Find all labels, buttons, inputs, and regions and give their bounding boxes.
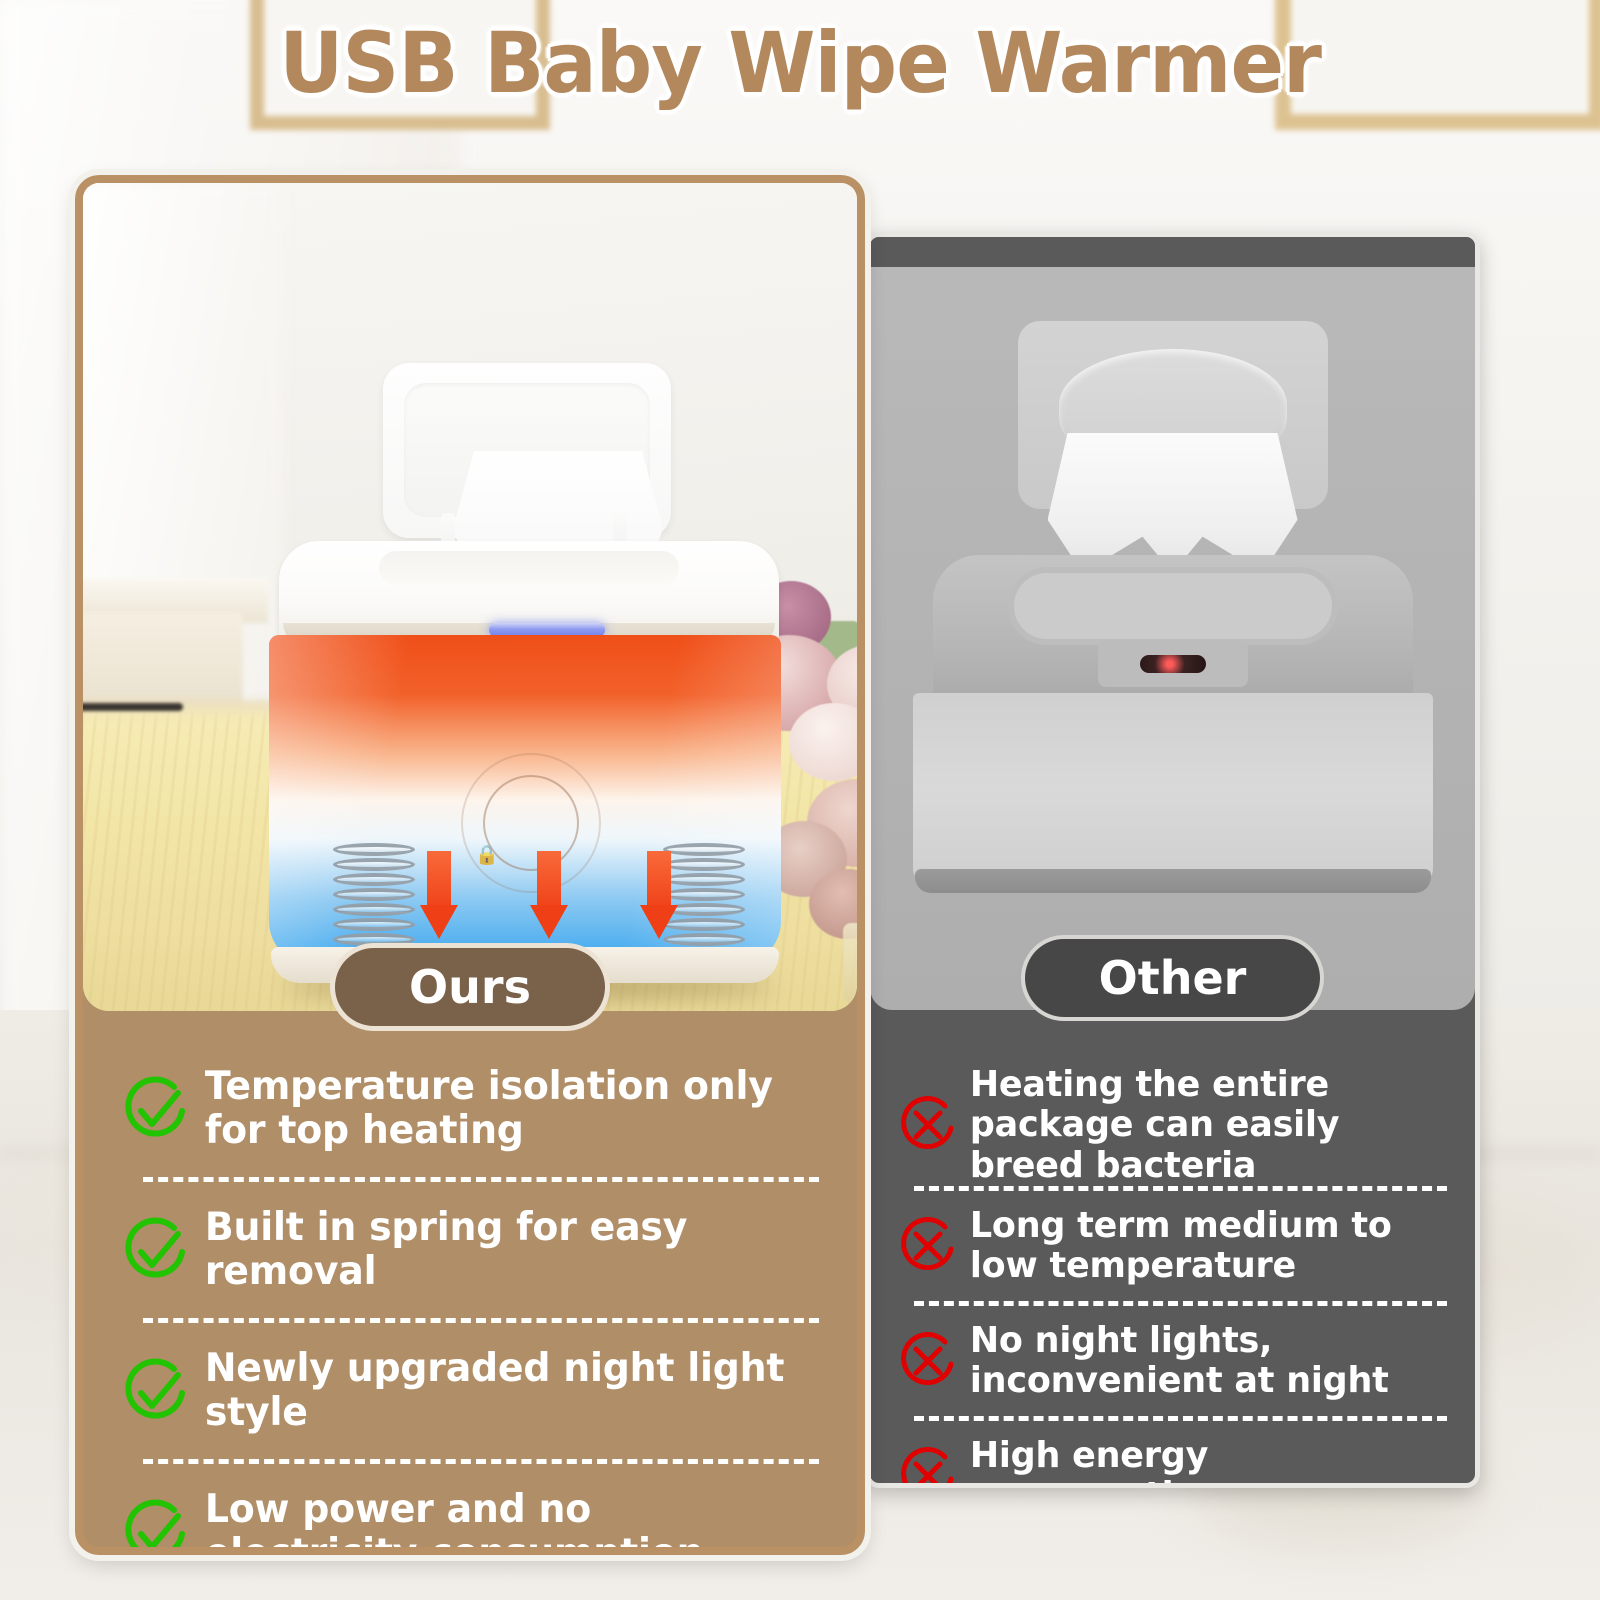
other-feature-list: Heating the entire package can easily br… [870, 1065, 1475, 1488]
list-item-label: Newly upgraded night light style [199, 1347, 814, 1434]
list-item-label: No night lights, inconvenient at night [966, 1321, 1442, 1402]
cross-circle-icon [890, 1213, 966, 1279]
other-base [915, 869, 1431, 893]
ours-product-photo: 🔒 [83, 183, 857, 1011]
other-product-photo [870, 237, 1475, 1010]
list-item: Newly upgraded night light style [113, 1323, 833, 1459]
list-item: Heating the entire package can easily br… [890, 1065, 1457, 1186]
heat-arrow-down-icon [420, 851, 458, 939]
warmer-top-slot [379, 551, 679, 585]
lock-icon: 🔒 [475, 843, 499, 867]
list-item-label: Temperature isolation only for top heati… [199, 1065, 814, 1152]
list-item-label: High energy consumption [966, 1436, 1442, 1488]
list-item-label: Built in spring for easy removal [199, 1206, 814, 1293]
list-item: High energy consumption [890, 1421, 1457, 1488]
check-circle-icon [113, 1212, 199, 1288]
ours-comparison-card: 🔒 Ours Temperature isolat [75, 175, 865, 1555]
cross-circle-icon [890, 1092, 966, 1158]
other-comparison-card: Other Heating the entire package can eas… [865, 232, 1480, 1488]
list-item-label: Low power and no electricity consumption [199, 1488, 814, 1555]
other-badge: Other [1021, 935, 1325, 1021]
page-title-container: USB Baby Wipe Warmer [0, 14, 1600, 112]
check-circle-icon [113, 1353, 199, 1429]
page-title: USB Baby Wipe Warmer [279, 14, 1321, 112]
list-item: Built in spring for easy removal [113, 1182, 833, 1318]
cross-circle-icon [890, 1443, 966, 1488]
list-item-label: Long term medium to low temperature [966, 1206, 1442, 1287]
cross-circle-icon [890, 1328, 966, 1394]
other-body [913, 693, 1433, 883]
ours-feature-list: Temperature isolation only for top heati… [83, 1041, 857, 1555]
other-indicator-led [1140, 655, 1206, 673]
list-item: Temperature isolation only for top heati… [113, 1041, 833, 1177]
list-item: Low power and no electricity consumption [113, 1464, 833, 1555]
photo-cable [83, 703, 183, 711]
list-item: No night lights, inconvenient at night [890, 1306, 1457, 1416]
ours-badge: Ours [330, 943, 610, 1031]
check-circle-icon [113, 1494, 199, 1555]
list-item-label: Heating the entire package can easily br… [966, 1065, 1442, 1186]
other-wipe-sheet [1048, 433, 1298, 573]
other-top-rim [1008, 567, 1338, 645]
check-circle-icon [113, 1071, 199, 1147]
heat-arrow-down-icon [530, 851, 568, 939]
ours-badge-container: Ours [83, 943, 857, 1031]
list-item: Long term medium to low temperature [890, 1191, 1457, 1301]
other-badge-container: Other [870, 935, 1475, 1021]
heat-arrow-down-icon [640, 851, 678, 939]
